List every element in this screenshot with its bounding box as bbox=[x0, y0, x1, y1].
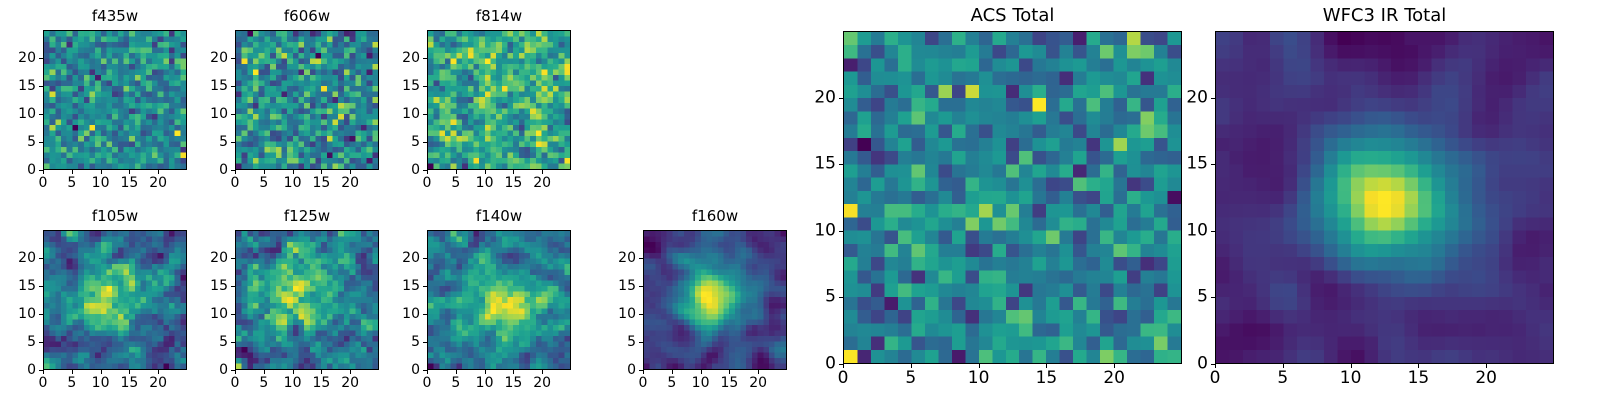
y-tick-mark bbox=[231, 258, 235, 259]
y-tick-mark bbox=[423, 258, 427, 259]
x-tick-label: 10 bbox=[968, 370, 990, 387]
y-tick-mark bbox=[1211, 164, 1215, 165]
heatmap-panel: WFC3 IR Total0510152005101520 bbox=[1215, 7, 1554, 389]
x-tick-label: 10 bbox=[284, 376, 302, 390]
x-tick-label: 15 bbox=[312, 176, 330, 190]
heatmap-image bbox=[44, 31, 186, 169]
y-tick-label: 10 bbox=[18, 307, 36, 321]
x-tick-mark bbox=[485, 370, 486, 374]
heatmap-image bbox=[1216, 32, 1553, 363]
x-tick-mark bbox=[350, 170, 351, 174]
y-tick-label: 0 bbox=[219, 363, 228, 377]
heatmap-panel: f140w0510152005101520 bbox=[427, 209, 571, 392]
y-tick-label: 20 bbox=[618, 251, 636, 265]
y-tick-label: 10 bbox=[18, 107, 36, 121]
y-tick-mark bbox=[423, 286, 427, 287]
y-tick-mark bbox=[1211, 98, 1215, 99]
y-tick-label: 10 bbox=[618, 307, 636, 321]
y-tick-label: 20 bbox=[402, 51, 420, 65]
y-tick-label: 0 bbox=[27, 363, 36, 377]
x-tick-mark bbox=[158, 370, 159, 374]
y-tick-mark bbox=[39, 58, 43, 59]
x-tick-mark bbox=[264, 170, 265, 174]
heatmap-image bbox=[236, 231, 378, 369]
heatmap-image bbox=[844, 32, 1181, 363]
x-tick-mark bbox=[729, 370, 730, 374]
heatmap-panel: f125w0510152005101520 bbox=[235, 209, 379, 392]
y-tick-label: 0 bbox=[627, 363, 636, 377]
heatmap-panel: f160w0510152005101520 bbox=[643, 209, 787, 392]
panel-title: f160w bbox=[643, 209, 787, 224]
y-tick-label: 15 bbox=[814, 156, 836, 173]
y-tick-label: 15 bbox=[210, 279, 228, 293]
y-tick-label: 0 bbox=[825, 356, 836, 373]
x-tick-mark bbox=[672, 370, 673, 374]
y-tick-mark bbox=[231, 58, 235, 59]
x-tick-label: 5 bbox=[67, 176, 76, 190]
x-tick-label: 0 bbox=[423, 176, 432, 190]
y-tick-mark bbox=[1211, 297, 1215, 298]
y-tick-mark bbox=[423, 86, 427, 87]
heatmap-axes bbox=[843, 31, 1182, 364]
panel-title: ACS Total bbox=[843, 7, 1182, 25]
x-tick-label: 20 bbox=[1103, 370, 1125, 387]
x-tick-label: 0 bbox=[231, 176, 240, 190]
x-tick-mark bbox=[321, 170, 322, 174]
panel-title: f105w bbox=[43, 209, 187, 224]
x-tick-label: 20 bbox=[341, 376, 359, 390]
y-tick-label: 5 bbox=[27, 335, 36, 349]
x-tick-label: 0 bbox=[1210, 370, 1221, 387]
heatmap-panel: f435w0510152005101520 bbox=[43, 9, 187, 192]
y-tick-mark bbox=[1211, 364, 1215, 365]
y-tick-label: 5 bbox=[411, 135, 420, 149]
x-tick-mark bbox=[72, 170, 73, 174]
x-tick-mark bbox=[485, 170, 486, 174]
y-tick-mark bbox=[39, 86, 43, 87]
x-tick-label: 10 bbox=[476, 176, 494, 190]
heatmap-panel: f606w0510152005101520 bbox=[235, 9, 379, 192]
y-tick-mark bbox=[423, 142, 427, 143]
x-tick-label: 15 bbox=[312, 376, 330, 390]
heatmap-image bbox=[428, 31, 570, 169]
y-tick-label: 0 bbox=[411, 163, 420, 177]
figure-canvas: f435w0510152005101520f606w05101520051015… bbox=[0, 0, 1600, 400]
heatmap-image bbox=[44, 231, 186, 369]
heatmap-panel: f105w0510152005101520 bbox=[43, 209, 187, 392]
x-tick-label: 0 bbox=[423, 376, 432, 390]
x-tick-mark bbox=[701, 370, 702, 374]
y-tick-mark bbox=[231, 86, 235, 87]
x-tick-label: 10 bbox=[92, 176, 110, 190]
panel-title: f606w bbox=[235, 9, 379, 24]
y-tick-mark bbox=[1211, 231, 1215, 232]
y-tick-label: 10 bbox=[210, 107, 228, 121]
x-tick-label: 0 bbox=[231, 376, 240, 390]
panel-title: f140w bbox=[427, 209, 571, 224]
y-tick-mark bbox=[639, 258, 643, 259]
y-tick-mark bbox=[231, 370, 235, 371]
y-tick-label: 15 bbox=[618, 279, 636, 293]
x-tick-mark bbox=[513, 170, 514, 174]
x-tick-mark bbox=[129, 170, 130, 174]
heatmap-axes bbox=[43, 30, 187, 170]
x-tick-label: 15 bbox=[504, 376, 522, 390]
y-tick-mark bbox=[639, 286, 643, 287]
y-tick-label: 15 bbox=[402, 279, 420, 293]
x-tick-label: 20 bbox=[1475, 370, 1497, 387]
x-tick-mark bbox=[158, 170, 159, 174]
heatmap-axes bbox=[1215, 31, 1554, 364]
x-tick-mark bbox=[235, 170, 236, 174]
y-tick-mark bbox=[423, 170, 427, 171]
y-tick-label: 5 bbox=[627, 335, 636, 349]
y-tick-label: 15 bbox=[402, 79, 420, 93]
x-tick-mark bbox=[72, 370, 73, 374]
y-tick-mark bbox=[839, 364, 843, 365]
x-tick-mark bbox=[235, 370, 236, 374]
y-tick-label: 20 bbox=[210, 251, 228, 265]
y-tick-label: 20 bbox=[1186, 89, 1208, 106]
x-tick-mark bbox=[643, 370, 644, 374]
heatmap-axes bbox=[235, 230, 379, 370]
x-tick-label: 0 bbox=[838, 370, 849, 387]
y-tick-label: 20 bbox=[402, 251, 420, 265]
y-tick-mark bbox=[423, 114, 427, 115]
x-tick-label: 5 bbox=[667, 376, 676, 390]
y-tick-label: 20 bbox=[18, 51, 36, 65]
y-tick-label: 20 bbox=[814, 89, 836, 106]
y-tick-label: 0 bbox=[411, 363, 420, 377]
panel-title: WFC3 IR Total bbox=[1215, 7, 1554, 25]
x-tick-label: 20 bbox=[533, 176, 551, 190]
x-tick-label: 10 bbox=[476, 376, 494, 390]
x-tick-label: 20 bbox=[149, 176, 167, 190]
heatmap-axes bbox=[235, 30, 379, 170]
y-tick-mark bbox=[231, 342, 235, 343]
y-tick-mark bbox=[39, 170, 43, 171]
y-tick-label: 20 bbox=[210, 51, 228, 65]
x-tick-mark bbox=[350, 370, 351, 374]
y-tick-mark bbox=[231, 170, 235, 171]
y-tick-mark bbox=[39, 342, 43, 343]
x-tick-label: 5 bbox=[905, 370, 916, 387]
x-tick-label: 20 bbox=[749, 376, 767, 390]
heatmap-image bbox=[236, 31, 378, 169]
x-tick-label: 10 bbox=[92, 376, 110, 390]
x-tick-label: 20 bbox=[533, 376, 551, 390]
y-tick-label: 10 bbox=[814, 222, 836, 239]
x-tick-label: 5 bbox=[259, 176, 268, 190]
x-tick-mark bbox=[427, 170, 428, 174]
y-tick-label: 0 bbox=[27, 163, 36, 177]
x-tick-label: 15 bbox=[1036, 370, 1058, 387]
x-tick-label: 15 bbox=[504, 176, 522, 190]
x-tick-label: 5 bbox=[259, 376, 268, 390]
x-tick-label: 5 bbox=[451, 376, 460, 390]
x-tick-label: 15 bbox=[120, 176, 138, 190]
y-tick-mark bbox=[39, 114, 43, 115]
y-tick-mark bbox=[423, 370, 427, 371]
x-tick-label: 15 bbox=[1408, 370, 1430, 387]
x-tick-mark bbox=[43, 170, 44, 174]
x-tick-label: 0 bbox=[639, 376, 648, 390]
y-tick-mark bbox=[839, 98, 843, 99]
heatmap-axes bbox=[643, 230, 787, 370]
y-tick-label: 10 bbox=[1186, 222, 1208, 239]
y-tick-mark bbox=[839, 164, 843, 165]
panel-title: f435w bbox=[43, 9, 187, 24]
y-tick-label: 10 bbox=[402, 307, 420, 321]
x-tick-mark bbox=[513, 370, 514, 374]
x-tick-label: 5 bbox=[1277, 370, 1288, 387]
x-tick-label: 15 bbox=[720, 376, 738, 390]
y-tick-mark bbox=[231, 314, 235, 315]
y-tick-label: 15 bbox=[210, 79, 228, 93]
x-tick-mark bbox=[293, 370, 294, 374]
y-tick-mark bbox=[639, 314, 643, 315]
panel-title: f125w bbox=[235, 209, 379, 224]
y-tick-mark bbox=[231, 142, 235, 143]
x-tick-mark bbox=[43, 370, 44, 374]
x-tick-mark bbox=[542, 370, 543, 374]
y-tick-label: 0 bbox=[1197, 356, 1208, 373]
x-tick-mark bbox=[456, 370, 457, 374]
x-tick-label: 10 bbox=[1340, 370, 1362, 387]
x-tick-label: 10 bbox=[692, 376, 710, 390]
y-tick-label: 15 bbox=[1186, 156, 1208, 173]
x-tick-mark bbox=[293, 170, 294, 174]
x-tick-mark bbox=[129, 370, 130, 374]
x-tick-label: 5 bbox=[67, 376, 76, 390]
y-tick-mark bbox=[423, 342, 427, 343]
y-tick-mark bbox=[639, 342, 643, 343]
x-tick-mark bbox=[264, 370, 265, 374]
y-tick-label: 5 bbox=[825, 289, 836, 306]
x-tick-label: 0 bbox=[39, 176, 48, 190]
heatmap-axes bbox=[427, 230, 571, 370]
heatmap-image bbox=[644, 231, 786, 369]
heatmap-axes bbox=[427, 30, 571, 170]
y-tick-mark bbox=[39, 286, 43, 287]
x-tick-mark bbox=[101, 370, 102, 374]
y-tick-mark bbox=[231, 286, 235, 287]
y-tick-mark bbox=[839, 297, 843, 298]
heatmap-panel: ACS Total0510152005101520 bbox=[843, 7, 1182, 389]
heatmap-image bbox=[428, 231, 570, 369]
y-tick-mark bbox=[231, 114, 235, 115]
y-tick-mark bbox=[39, 258, 43, 259]
y-tick-mark bbox=[39, 370, 43, 371]
y-tick-mark bbox=[423, 314, 427, 315]
y-tick-mark bbox=[839, 231, 843, 232]
y-tick-label: 5 bbox=[411, 335, 420, 349]
x-tick-label: 20 bbox=[341, 176, 359, 190]
y-tick-label: 20 bbox=[18, 251, 36, 265]
heatmap-panel: f814w0510152005101520 bbox=[427, 9, 571, 192]
x-tick-mark bbox=[758, 370, 759, 374]
x-tick-label: 5 bbox=[451, 176, 460, 190]
y-tick-mark bbox=[39, 314, 43, 315]
y-tick-mark bbox=[39, 142, 43, 143]
x-tick-mark bbox=[456, 170, 457, 174]
x-tick-mark bbox=[427, 370, 428, 374]
x-tick-mark bbox=[321, 370, 322, 374]
y-tick-label: 5 bbox=[1197, 289, 1208, 306]
heatmap-axes bbox=[43, 230, 187, 370]
y-tick-label: 5 bbox=[27, 135, 36, 149]
x-tick-label: 20 bbox=[149, 376, 167, 390]
x-tick-mark bbox=[101, 170, 102, 174]
x-tick-label: 0 bbox=[39, 376, 48, 390]
x-tick-mark bbox=[542, 170, 543, 174]
y-tick-label: 10 bbox=[402, 107, 420, 121]
y-tick-mark bbox=[639, 370, 643, 371]
y-tick-label: 10 bbox=[210, 307, 228, 321]
y-tick-label: 5 bbox=[219, 135, 228, 149]
panel-title: f814w bbox=[427, 9, 571, 24]
y-tick-label: 0 bbox=[219, 163, 228, 177]
x-tick-label: 15 bbox=[120, 376, 138, 390]
y-tick-mark bbox=[423, 58, 427, 59]
y-tick-label: 15 bbox=[18, 279, 36, 293]
x-tick-label: 10 bbox=[284, 176, 302, 190]
y-tick-label: 15 bbox=[18, 79, 36, 93]
y-tick-label: 5 bbox=[219, 335, 228, 349]
